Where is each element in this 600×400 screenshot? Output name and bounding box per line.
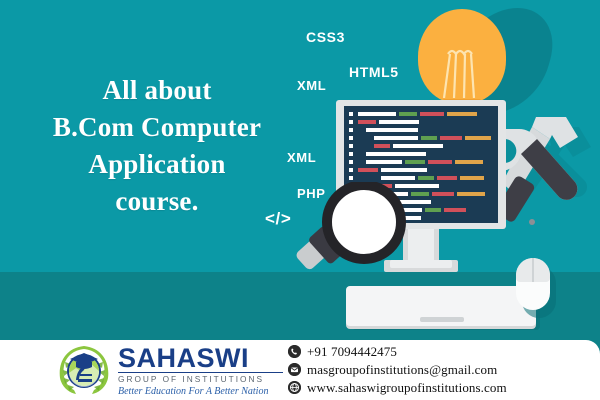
contact-row-email[interactable]: masgroupofinstitutions@gmail.com (288, 361, 588, 378)
contact-row-phone[interactable]: +91 7094442475 (288, 343, 588, 360)
html5-tag: HTML5 (349, 64, 399, 80)
brand-name: SAHASWI (118, 344, 283, 372)
css3-tag: CSS3 (306, 29, 345, 45)
headline-line-3: Application (14, 146, 300, 183)
code-slash-tag: </> (265, 209, 291, 229)
poster-canvas: All about B.Com Computer Application cou… (0, 0, 600, 400)
brand-block: SAHASWI GROUP OF INSTITUTIONS Better Edu… (118, 344, 283, 398)
keyboard-spacebar[interactable] (420, 317, 464, 322)
phone-icon (288, 345, 301, 358)
lightbulb-filament-icon (440, 48, 484, 98)
contact-list: +91 7094442475 masgroupofinstitutions@gm… (288, 343, 588, 397)
brand-subtitle: GROUP OF INSTITUTIONS (118, 372, 283, 385)
headline-line-2: B.Com Computer (14, 109, 300, 146)
email-value: masgroupofinstitutions@gmail.com (307, 362, 497, 378)
headline-line-4: course. (14, 183, 300, 220)
brand-tagline: Better Education For A Better Nation (118, 385, 283, 398)
contact-row-website[interactable]: www.sahaswigroupofinstitutions.com (288, 379, 588, 396)
php-tag: PHP (297, 186, 326, 201)
phone-value: +91 7094442475 (307, 344, 397, 360)
xml-tag-2: XML (287, 150, 316, 165)
globe-icon (288, 381, 301, 394)
page-title: All about B.Com Computer Application cou… (14, 72, 300, 220)
xml-tag-1: XML (297, 78, 326, 93)
website-value: www.sahaswigroupofinstitutions.com (307, 380, 507, 396)
headline-line-1: All about (14, 72, 300, 109)
email-icon (288, 363, 301, 376)
mouse-button-divider (532, 258, 534, 282)
sahaswi-emblem-icon (56, 342, 112, 396)
